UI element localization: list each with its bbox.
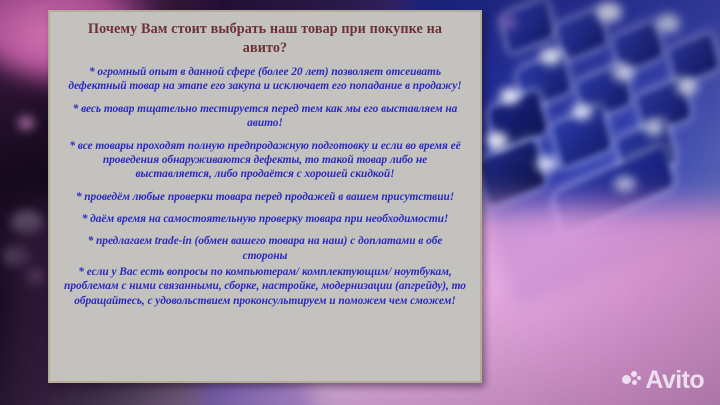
panel-paragraph: * огромный опыт в данной сфере (более 20… [64,65,466,94]
panel-paragraph: * все товары проходят полную предпродажн… [64,139,466,182]
avito-dots-icon [622,371,641,390]
panel-paragraph: * даём время на самостоятельную проверку… [64,212,466,226]
avito-wordmark: Avito [645,368,704,393]
info-panel: Почему Вам стоит выбрать наш товар при п… [48,10,482,383]
panel-paragraph: * если у Вас есть вопросы по компьютерам… [64,265,466,308]
panel-paragraph: * весь товар тщательно тестируется перед… [64,102,466,131]
screenshot-canvas: Почему Вам стоит выбрать наш товар при п… [0,0,720,405]
panel-title: Почему Вам стоит выбрать наш товар при п… [70,20,460,58]
panel-paragraph: * предлагаем trade-in (обмен вашего това… [64,234,466,263]
avito-watermark: Avito [622,368,704,393]
panel-paragraph: * проведём любые проверки товара перед п… [64,190,466,204]
